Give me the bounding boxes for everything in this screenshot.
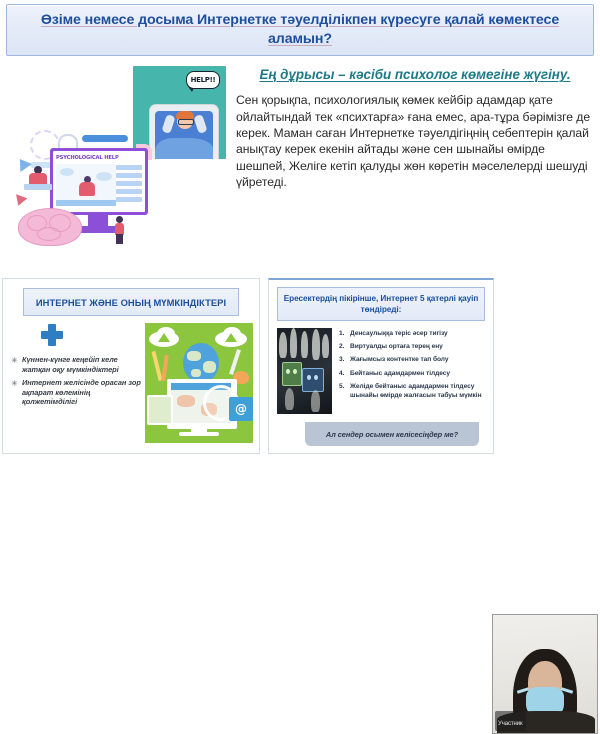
ghost-hand-icon xyxy=(301,331,308,358)
lead-text-column: Ең дұрысы – кәсіби психолог көмегіне жүг… xyxy=(236,66,594,190)
text-placeholder-bar xyxy=(116,173,142,178)
opportunities-bullet-list: ✳ Күннен-күнге кеңейіп келе жатқан оқу м… xyxy=(11,355,141,410)
slide-internet-dangers[interactable]: Ересектердің пікірінше, Интернет 5 қатер… xyxy=(268,278,494,454)
device-eye xyxy=(307,375,311,380)
participant-name-label: Участник xyxy=(498,721,523,727)
bullet-marker-icon: ✳ xyxy=(11,378,22,389)
speech-bubble-label: HELP!! xyxy=(191,76,216,84)
slide-internet-opportunities[interactable]: ИНТЕРНЕТ ЖӘНЕ ОНЫҢ МҮМКІНДІКТЕРІ ✳ Күнне… xyxy=(2,278,260,454)
slide-title-banner: Өзіме немесе досыма Интернетке тәуелділі… xyxy=(6,4,594,56)
device-eye xyxy=(293,369,297,374)
standing-person-icon xyxy=(114,216,126,244)
blue-pill-bar-decoration xyxy=(82,135,128,142)
brain-icon xyxy=(18,208,82,246)
laptop-icon xyxy=(24,184,52,190)
text-placeholder-bar xyxy=(116,197,142,202)
raised-arm-left-icon xyxy=(161,114,175,134)
lead-heading: Ең дұрысы – кәсіби психолог көмегіне жүг… xyxy=(236,66,594,83)
ground-line xyxy=(56,200,116,206)
plus-icon xyxy=(41,324,63,346)
list-item: 5. Желіде бейтаныс адамдармен тілдесу шы… xyxy=(339,383,489,400)
list-item: 2. Виртуалды ортаға терең ену xyxy=(339,343,489,352)
at-symbol-icon: @ xyxy=(235,402,247,416)
monitor-screen: PSYCHOLOGICAL HELP xyxy=(53,151,145,212)
text-placeholder-bar xyxy=(116,189,142,194)
device-eye xyxy=(314,375,318,380)
upload-arrow-icon xyxy=(158,333,170,342)
dangers-title-label: Ересектердің пікірінше, Интернет 5 қатер… xyxy=(283,293,479,316)
green-device-icon xyxy=(282,362,302,386)
top-content-section: HELP!! PSYCHOLOGICAL HELP xyxy=(0,58,600,256)
ghost-hand-icon xyxy=(311,390,320,412)
opportunities-title-label: ИНТЕРНЕТ ЖӘНЕ ОНЫҢ МҮМКІНДІКТЕРІ xyxy=(36,297,226,308)
list-item: 1. Денсаулыққа теріс әсер тигізу xyxy=(339,330,489,339)
text-placeholder-bar xyxy=(116,181,142,186)
globe-icon xyxy=(183,343,219,383)
bottom-slides-section: ИНТЕРНЕТ ЖӘНЕ ОНЫҢ МҮМКІНДІКТЕРІ ✳ Күнне… xyxy=(0,278,600,458)
cloud-icon xyxy=(96,172,112,181)
video-participant-tile[interactable]: Участник xyxy=(492,614,598,734)
ghost-hand-icon xyxy=(290,328,297,358)
map-region xyxy=(177,395,195,407)
tablet-screen xyxy=(149,397,171,423)
list-item-number: 1. xyxy=(339,330,350,339)
opportunities-title-box: ИНТЕРНЕТ ЖӘНЕ ОНЫҢ МҮМКІНДІКТЕРІ xyxy=(23,288,239,316)
water-wave-icon xyxy=(155,138,213,159)
raised-arm-right-icon xyxy=(193,114,207,134)
bullet-text: Интернет желісінде орасан зор ақпарат кө… xyxy=(22,378,141,408)
speech-bubble: HELP!! xyxy=(186,71,220,89)
email-folder-icon: @ xyxy=(229,397,253,421)
page-title: Өзіме немесе досыма Интернетке тәуелділі… xyxy=(17,11,583,48)
dangers-footer-banner: Ал сендер осымен келісесіңдер ме? xyxy=(305,422,479,446)
download-arrow-icon xyxy=(225,333,237,342)
blue-device-icon xyxy=(302,368,324,392)
ghost-hand-icon xyxy=(312,329,320,360)
cloud-icon xyxy=(60,168,74,176)
list-item: 3. Жағымсыз контентке тап болу xyxy=(339,356,489,365)
website-title-label: PSYCHOLOGICAL HELP xyxy=(56,155,119,161)
list-item: ✳ Интернет желісінде орасан зор ақпарат … xyxy=(11,378,141,408)
dangers-numbered-list: 1. Денсаулыққа теріс әсер тигізу 2. Вирт… xyxy=(339,330,489,405)
desktop-monitor-icon: PSYCHOLOGICAL HELP xyxy=(50,148,148,215)
pencil-icon xyxy=(161,355,169,381)
ghost-hand-icon xyxy=(279,332,287,358)
list-item: ✳ Күннен-күнге кеңейіп келе жатқан оқу м… xyxy=(11,355,141,375)
ghost-hand-icon xyxy=(285,388,294,410)
lead-body-paragraph: Сен қорықпа, психологиялық көмек кейбір … xyxy=(236,92,594,190)
standing-person-legs xyxy=(116,234,123,244)
list-item-text: Денсаулыққа теріс әсер тигізу xyxy=(350,330,448,339)
list-item-number: 2. xyxy=(339,343,350,352)
website-header: PSYCHOLOGICAL HELP xyxy=(56,153,124,162)
dangers-title-box: Ересектердің пікірінше, Интернет 5 қатер… xyxy=(277,287,485,321)
blue-arrow-icon xyxy=(14,155,32,172)
monitor-base xyxy=(179,432,219,436)
list-item-text: Бейтаныс адамдармен тілдесу xyxy=(350,370,450,379)
device-eye xyxy=(286,369,290,374)
psychological-help-illustration: HELP!! PSYCHOLOGICAL HELP xyxy=(0,58,226,256)
dangers-footer-question: Ал сендер осымен келісесіңдер ме? xyxy=(326,430,458,439)
tablet-icon xyxy=(147,395,173,425)
internet-opportunities-image: @ xyxy=(145,323,253,443)
text-placeholder-bar xyxy=(116,165,142,170)
list-item-number: 5. xyxy=(339,383,350,392)
bullet-text: Күннен-күнге кеңейіп келе жатқан оқу мүм… xyxy=(22,355,141,375)
psychological-help-scene: PSYCHOLOGICAL HELP xyxy=(10,130,165,252)
sitting-person-body-icon xyxy=(79,182,95,196)
list-item-number: 4. xyxy=(339,370,350,379)
list-item-text: Жағымсыз контентке тап болу xyxy=(350,356,448,365)
list-item-text: Виртуалды ортаға терең ену xyxy=(350,343,443,352)
internet-dangers-image xyxy=(277,328,332,414)
brain-fold xyxy=(37,227,61,241)
globe-landmass xyxy=(187,351,201,361)
list-item-number: 3. xyxy=(339,356,350,365)
list-item-text: Желіде бейтаныс адамдармен тілдесу шынай… xyxy=(350,383,489,400)
red-arrow-icon xyxy=(13,194,28,208)
standing-person-head xyxy=(116,216,123,223)
globe-landmass xyxy=(191,369,201,377)
bullet-marker-icon: ✳ xyxy=(11,355,22,366)
glasses-icon xyxy=(178,119,194,125)
website-hero-image xyxy=(56,164,116,206)
person-hair-icon xyxy=(176,111,194,119)
globe-landmass xyxy=(203,361,216,373)
ghost-hand-icon xyxy=(322,334,329,358)
list-item: 4. Бейтаныс адамдармен тілдесу xyxy=(339,370,489,379)
participant-name-badge: Участник xyxy=(495,711,526,731)
